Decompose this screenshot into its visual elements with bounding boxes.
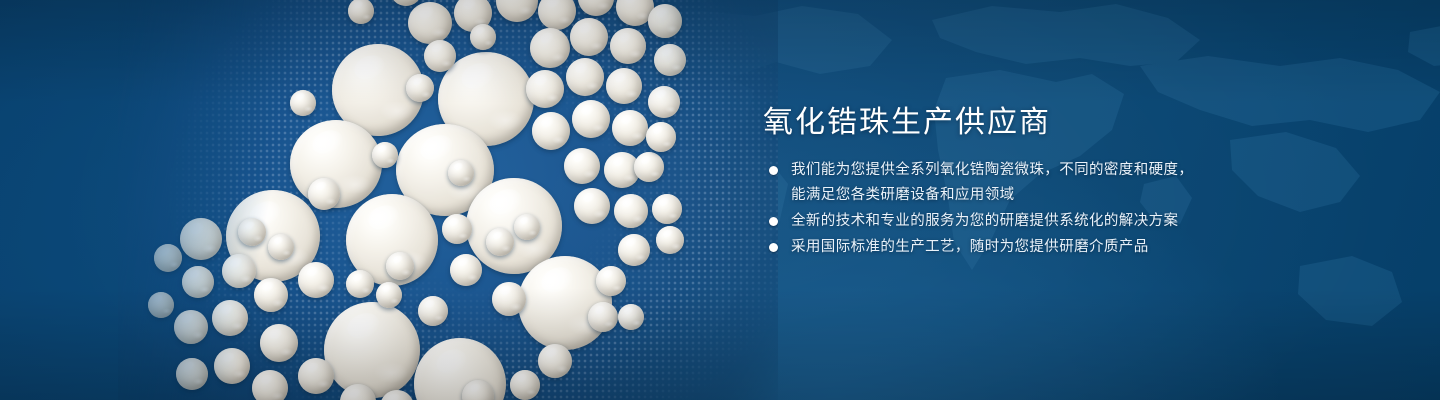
feature-item-3: 采用国际标准的生产工艺，随时为您提供研磨介质产品 bbox=[763, 235, 1383, 260]
banner-content: 氧化锆珠生产供应商 我们能为您提供全系列氧化锆陶瓷微珠，不同的密度和硬度， 能满… bbox=[763, 104, 1383, 261]
feature-item-2-line1: 全新的技术和专业的服务为您的研磨提供系统化的解决方案 bbox=[791, 213, 1178, 229]
banner-headline: 氧化锆珠生产供应商 bbox=[763, 104, 1383, 142]
bullet-dot-icon bbox=[769, 243, 778, 252]
feature-item-1-line1: 我们能为您提供全系列氧化锆陶瓷微珠，不同的密度和硬度， bbox=[791, 162, 1193, 178]
bullet-dot-icon bbox=[769, 166, 778, 175]
feature-item-3-line1: 采用国际标准的生产工艺，随时为您提供研磨介质产品 bbox=[791, 239, 1149, 255]
bullet-dot-icon bbox=[769, 217, 778, 226]
feature-item-1-line2: 能满足您各类研磨设备和应用领域 bbox=[791, 183, 1383, 208]
feature-list: 我们能为您提供全系列氧化锆陶瓷微珠，不同的密度和硬度， 能满足您各类研磨设备和应… bbox=[763, 158, 1383, 260]
hero-banner: 氧化锆珠生产供应商 我们能为您提供全系列氧化锆陶瓷微珠，不同的密度和硬度， 能满… bbox=[0, 0, 1440, 400]
feature-item-1: 我们能为您提供全系列氧化锆陶瓷微珠，不同的密度和硬度， 能满足您各类研磨设备和应… bbox=[763, 158, 1383, 208]
feature-item-2: 全新的技术和专业的服务为您的研磨提供系统化的解决方案 bbox=[763, 209, 1383, 234]
